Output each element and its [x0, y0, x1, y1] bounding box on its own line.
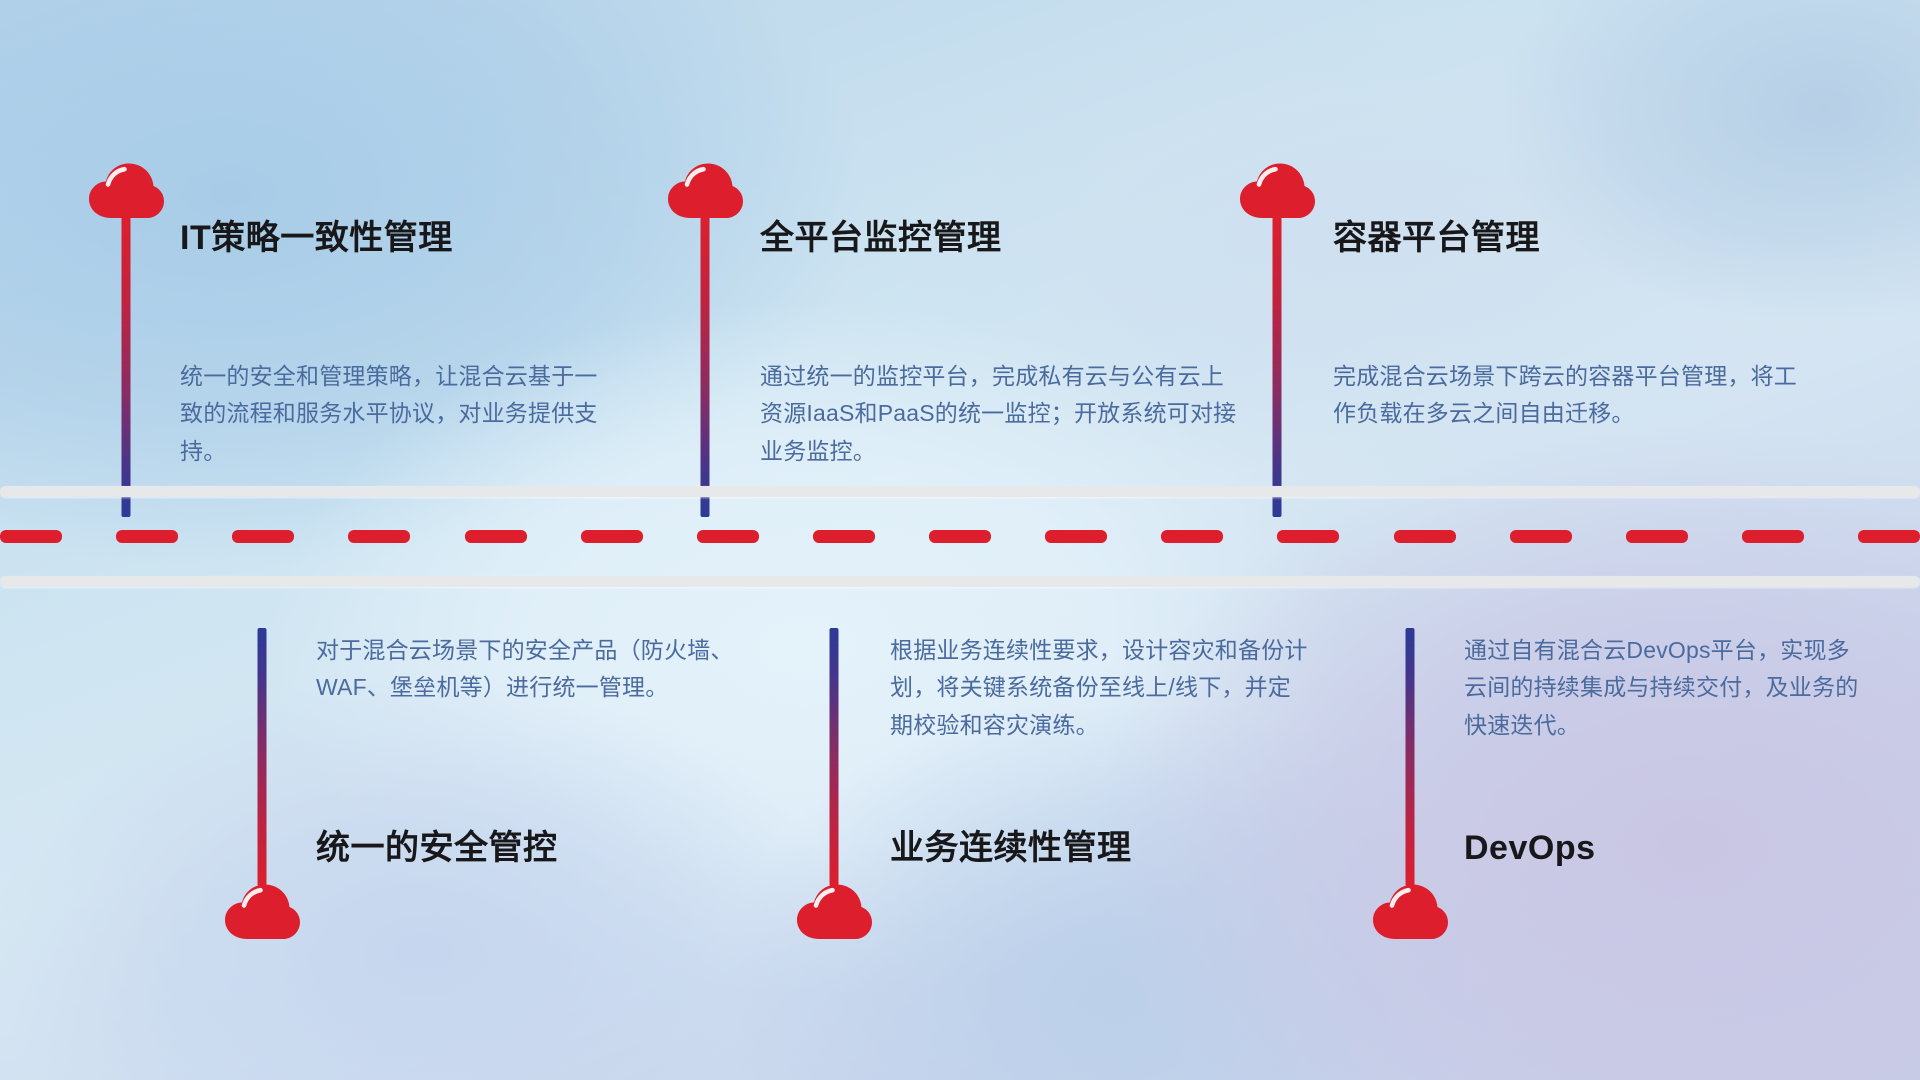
pin-stem — [1273, 217, 1282, 517]
divider-dashed-line — [0, 530, 1920, 543]
cloud-pin-icon — [1371, 628, 1449, 940]
divider-rail-top — [0, 486, 1920, 497]
pin-stem — [701, 217, 710, 517]
feature-heading: 全平台监控管理 — [760, 218, 1002, 259]
pin-stem — [1406, 628, 1415, 886]
divider-dash — [116, 530, 178, 543]
pin-stem — [830, 628, 839, 886]
divider-dash — [813, 530, 875, 543]
divider-dash — [1626, 530, 1688, 543]
divider-rail-bottom — [0, 576, 1920, 587]
feature-description: 通过统一的监控平台，完成私有云与公有云上资源IaaS和PaaS的统一监控；开放系… — [760, 358, 1240, 470]
feature-heading: 统一的安全管控 — [316, 828, 558, 869]
divider-dash — [1858, 530, 1920, 543]
divider-dash — [1394, 530, 1456, 543]
divider-dash — [1045, 530, 1107, 543]
divider-dash — [232, 530, 294, 543]
cloud-pin-icon — [666, 163, 744, 219]
divider-dash — [1277, 530, 1339, 543]
cloud-pin-icon — [1238, 163, 1316, 219]
pin-stem — [122, 217, 131, 517]
divider-dash — [581, 530, 643, 543]
infographic-canvas: IT策略一致性管理 统一的安全和管理策略，让混合云基于一致的流程和服务水平协议，… — [0, 0, 1920, 1080]
feature-description: 统一的安全和管理策略，让混合云基于一致的流程和服务水平协议，对业务提供支持。 — [180, 358, 600, 470]
divider-dash — [1742, 530, 1804, 543]
feature-description: 根据业务连续性要求，设计容灾和备份计划，将关键系统备份至线上/线下，并定期校验和… — [890, 632, 1310, 744]
cloud-pin-icon — [87, 163, 165, 219]
cloud-pin-icon — [795, 628, 873, 940]
divider-dash — [348, 530, 410, 543]
divider-dash — [465, 530, 527, 543]
feature-description: 通过自有混合云DevOps平台，实现多云间的持续集成与持续交付，及业务的快速迭代… — [1464, 632, 1864, 744]
feature-description: 对于混合云场景下的安全产品（防火墙、WAF、堡垒机等）进行统一管理。 — [316, 632, 736, 707]
divider-dash — [1510, 530, 1572, 543]
cloud-pin-icon — [223, 628, 301, 940]
divider-dash — [929, 530, 991, 543]
feature-heading: DevOps — [1464, 828, 1596, 869]
pin-stem — [258, 628, 267, 886]
feature-description: 完成混合云场景下跨云的容器平台管理，将工作负载在多云之间自由迁移。 — [1333, 358, 1803, 433]
feature-heading: 容器平台管理 — [1333, 218, 1540, 259]
divider-dash — [0, 530, 62, 543]
feature-heading: 业务连续性管理 — [890, 828, 1132, 869]
divider-dash — [1161, 530, 1223, 543]
feature-heading: IT策略一致性管理 — [180, 218, 453, 259]
divider-dash — [697, 530, 759, 543]
